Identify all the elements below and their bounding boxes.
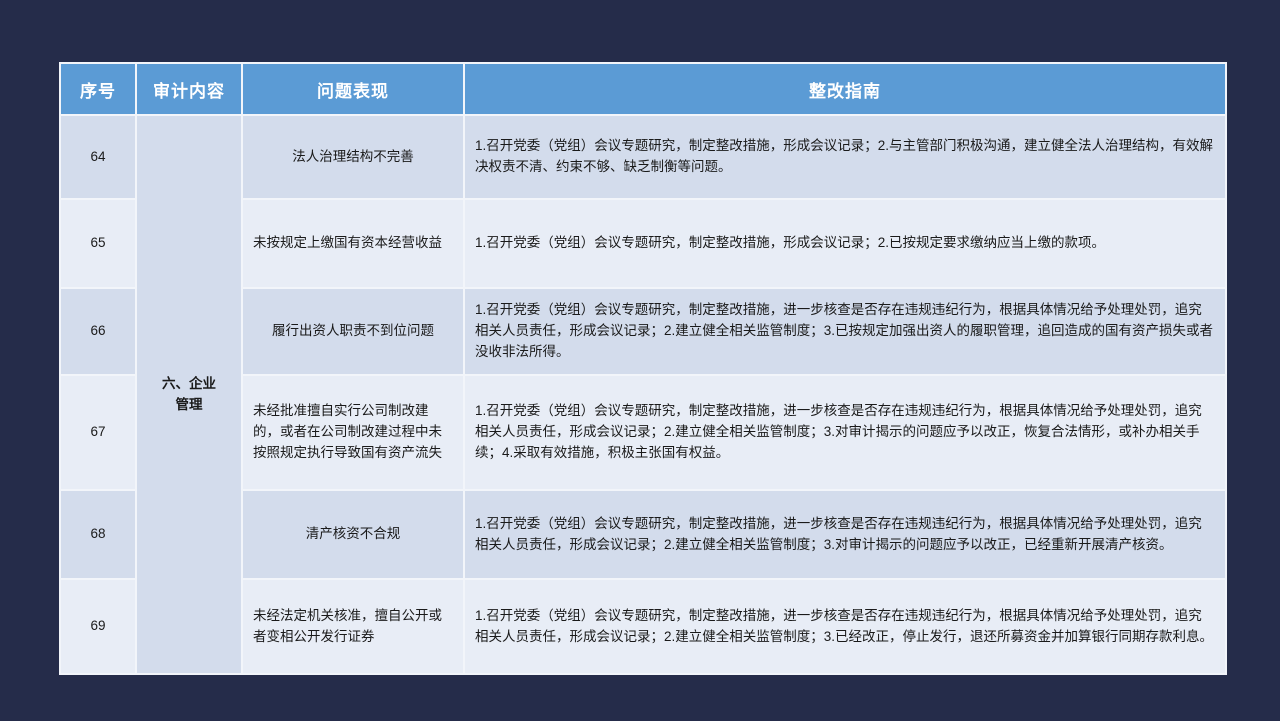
table-body: 64 六、企业 管理 法人治理结构不完善 1.召开党委（党组）会议专题研究，制定…	[61, 116, 1225, 673]
cell-guide: 1.召开党委（党组）会议专题研究，制定整改措施，形成会议记录；2.已按规定要求缴…	[465, 200, 1225, 287]
table-row: 64 六、企业 管理 法人治理结构不完善 1.召开党委（党组）会议专题研究，制定…	[61, 116, 1225, 198]
cell-category: 六、企业 管理	[137, 116, 241, 673]
cell-seq: 68	[61, 491, 135, 578]
cell-seq: 69	[61, 580, 135, 673]
column-header-content: 审计内容	[137, 64, 241, 114]
cell-problem: 未按规定上缴国有资本经营收益	[243, 200, 463, 287]
category-line-2: 管理	[147, 395, 231, 416]
cell-guide: 1.召开党委（党组）会议专题研究，制定整改措施，进一步核查是否存在违规违纪行为，…	[465, 491, 1225, 578]
cell-seq: 64	[61, 116, 135, 198]
cell-problem: 未经批准擅自实行公司制改建的，或者在公司制改建过程中未按照规定执行导致国有资产流…	[243, 376, 463, 489]
cell-problem: 法人治理结构不完善	[243, 116, 463, 198]
cell-problem: 履行出资人职责不到位问题	[243, 289, 463, 374]
cell-guide: 1.召开党委（党组）会议专题研究，制定整改措施，进一步核查是否存在违规违纪行为，…	[465, 289, 1225, 374]
cell-seq: 67	[61, 376, 135, 489]
slide-canvas: 序号 审计内容 问题表现 整改指南 64 六、企业 管理 法人治理结构不完善 1…	[0, 0, 1280, 721]
column-header-guide: 整改指南	[465, 64, 1225, 114]
audit-table: 序号 审计内容 问题表现 整改指南 64 六、企业 管理 法人治理结构不完善 1…	[59, 62, 1227, 675]
column-header-seq: 序号	[61, 64, 135, 114]
cell-guide: 1.召开党委（党组）会议专题研究，制定整改措施，进一步核查是否存在违规违纪行为，…	[465, 376, 1225, 489]
header-row: 序号 审计内容 问题表现 整改指南	[61, 64, 1225, 114]
table-header: 序号 审计内容 问题表现 整改指南	[61, 64, 1225, 114]
cell-guide: 1.召开党委（党组）会议专题研究，制定整改措施，进一步核查是否存在违规违纪行为，…	[465, 580, 1225, 673]
cell-problem: 未经法定机关核准，擅自公开或者变相公开发行证券	[243, 580, 463, 673]
cell-seq: 66	[61, 289, 135, 374]
category-line-1: 六、企业	[147, 374, 231, 395]
cell-problem: 清产核资不合规	[243, 491, 463, 578]
cell-guide: 1.召开党委（党组）会议专题研究，制定整改措施，形成会议记录；2.与主管部门积极…	[465, 116, 1225, 198]
cell-seq: 65	[61, 200, 135, 287]
audit-table-container: 序号 审计内容 问题表现 整改指南 64 六、企业 管理 法人治理结构不完善 1…	[59, 62, 1221, 666]
column-header-problem: 问题表现	[243, 64, 463, 114]
